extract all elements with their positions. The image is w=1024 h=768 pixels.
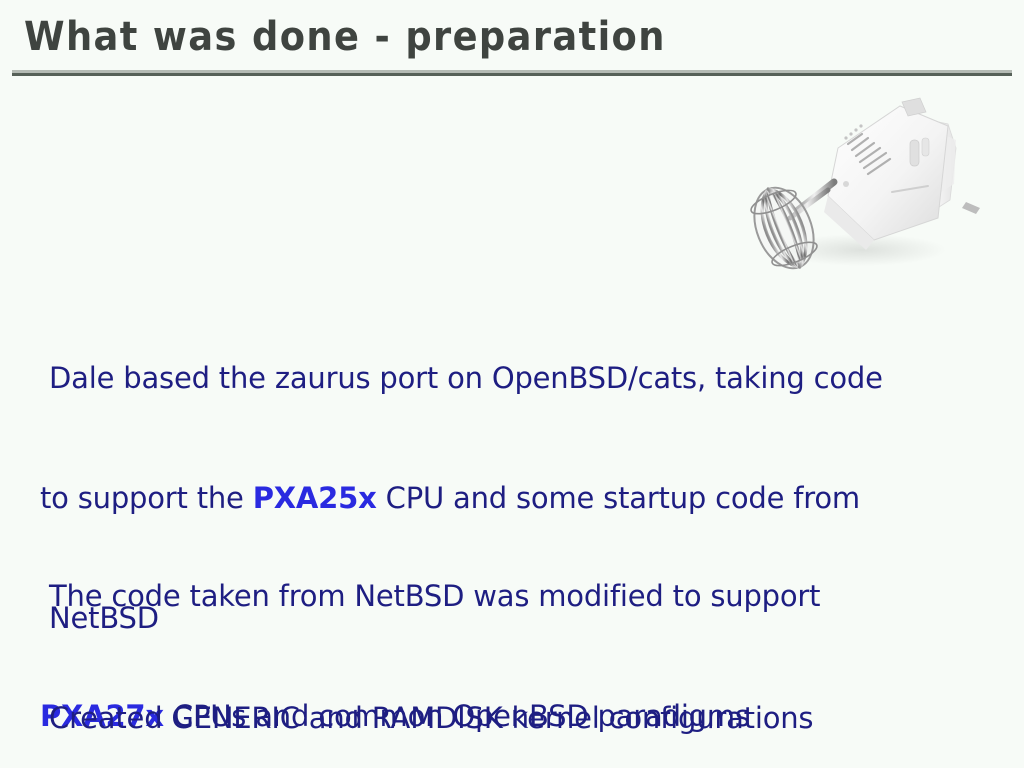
hand-mixer-image bbox=[742, 88, 990, 270]
bullet-paragraph-3: Created GENERIC and RAMDISK kernel confi… bbox=[40, 618, 1000, 768]
title-area: What was done - preparation bbox=[0, 0, 1024, 78]
slide-canvas: What was done - preparation bbox=[0, 0, 1024, 768]
page-title: What was done - preparation bbox=[24, 12, 666, 62]
header-divider bbox=[12, 70, 1012, 76]
paragraph-1-line-1: Dale based the zaurus port on OpenBSD/ca… bbox=[40, 358, 1000, 398]
paragraph-2-line-1: The code taken from NetBSD was modified … bbox=[40, 576, 1000, 616]
divider-dark-bar bbox=[12, 73, 1012, 76]
paragraph-3-line-1: Created GENERIC and RAMDISK kernel confi… bbox=[40, 698, 1000, 738]
